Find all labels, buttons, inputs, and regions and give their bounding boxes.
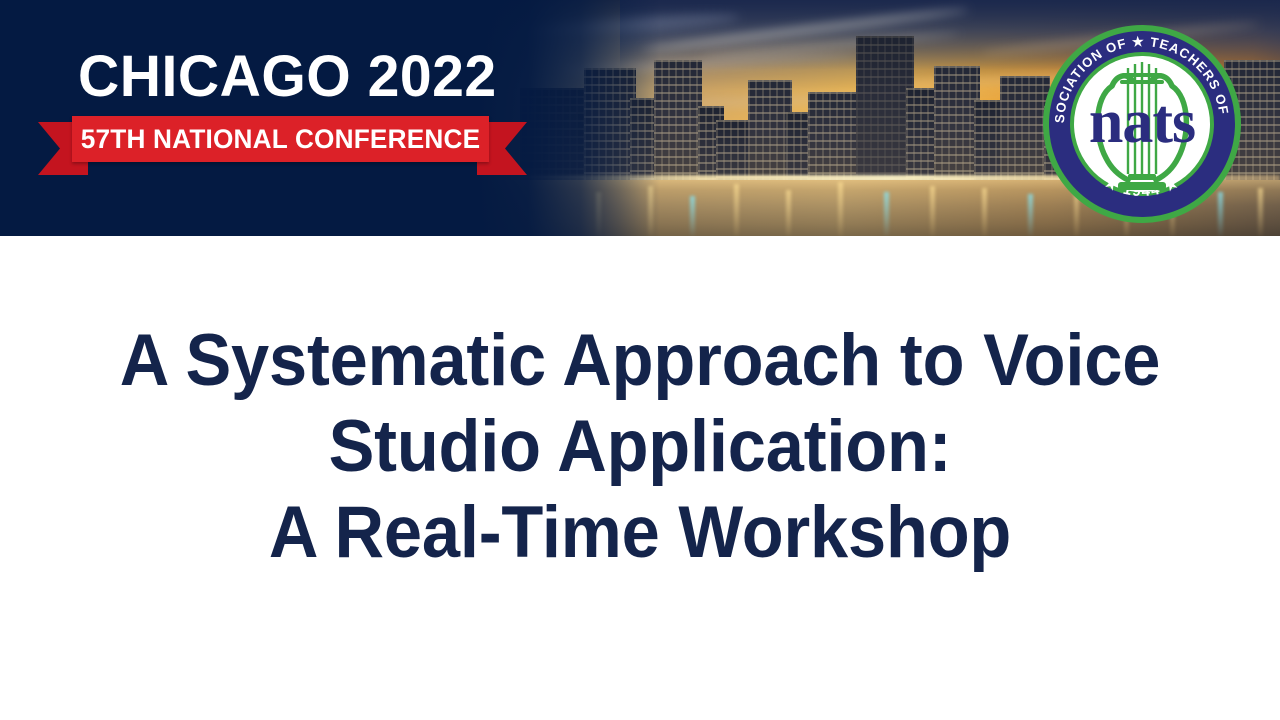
slide-header-banner: CHICAGO 2022 57TH NATIONAL CONFERENCE: [0, 0, 1280, 236]
slide-title: A Systematic Approach to Voice Studio Ap…: [0, 318, 1280, 576]
presentation-slide: CHICAGO 2022 57TH NATIONAL CONFERENCE: [0, 0, 1280, 720]
water-reflection-streak: [734, 184, 739, 236]
conference-ribbon: 57TH NATIONAL CONFERENCE: [0, 0, 560, 236]
title-line-3: A Real-Time Workshop: [38, 490, 1241, 576]
nats-logo: NATIONAL ASSOCIATION OF ★ TEACHERS OF SI…: [1042, 24, 1242, 224]
ribbon-label: 57TH NATIONAL CONFERENCE: [78, 116, 482, 162]
seal-wordmark: nats: [1089, 88, 1195, 156]
title-line-1: A Systematic Approach to Voice: [38, 318, 1241, 404]
water-reflection-streak: [690, 196, 695, 236]
building-silhouette: [654, 60, 702, 184]
water-reflection-streak: [1028, 194, 1033, 236]
water-reflection-streak: [838, 182, 843, 236]
water-reflection-streak: [884, 192, 889, 236]
title-line-2: Studio Application:: [38, 404, 1241, 490]
water-reflection-streak: [1258, 188, 1263, 236]
water-reflection-streak: [786, 190, 791, 236]
water-reflection-streak: [982, 188, 987, 236]
nats-seal-icon: NATIONAL ASSOCIATION OF ★ TEACHERS OF SI…: [1042, 24, 1242, 224]
water-reflection-streak: [930, 186, 935, 236]
